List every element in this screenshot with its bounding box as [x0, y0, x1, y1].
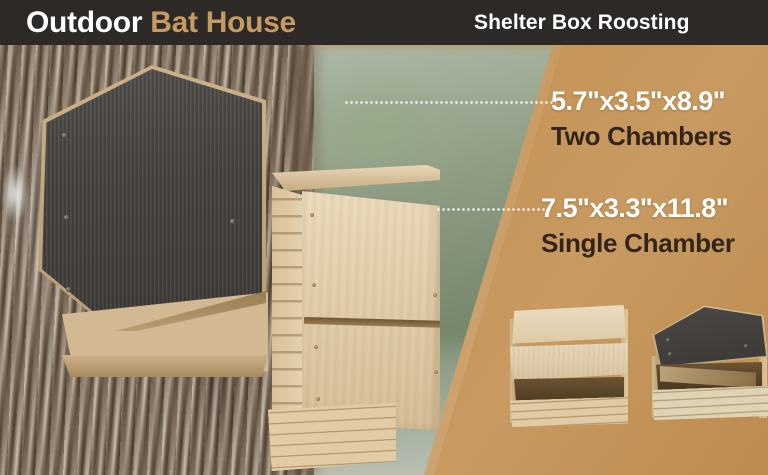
thumbnail-dark-roof-panel — [652, 302, 766, 366]
thumbnail-landing-board — [510, 397, 628, 427]
screw-icon — [230, 219, 235, 224]
thumbnail-upper-roof-panel — [512, 305, 626, 347]
header-subtitle: Shelter Box Roosting — [474, 11, 690, 35]
bat-house-landing-board — [268, 403, 396, 471]
screw-icon — [64, 215, 69, 220]
bat-house-front-panel — [302, 181, 440, 431]
callout-dimensions: 5.7"x3.5"x8.9" — [551, 88, 732, 115]
bat-house-side-panel — [272, 181, 306, 431]
bat-house-roof — [272, 165, 440, 191]
callout-two-chambers: 5.7"x3.5"x8.9" Two Chambers — [551, 88, 732, 149]
screw-icon — [310, 213, 314, 217]
two-chamber-bat-house-thumbnail — [508, 305, 630, 425]
screw-icon — [744, 344, 748, 348]
callout-label: Two Chambers — [551, 123, 732, 149]
header-bar: Outdoor Bat House Shelter Box Roosting — [0, 0, 768, 45]
screw-icon — [314, 345, 318, 349]
bat-house-bottom-rail — [62, 355, 268, 377]
screw-icon — [434, 370, 438, 374]
product-banner: 5.7"x3.5"x8.9" Two Chambers 7.5"x3.3"x11… — [0, 0, 768, 475]
thumbnail-lower-roof-panel — [510, 343, 628, 381]
screw-icon — [66, 287, 71, 292]
dark-roof-bat-house-on-tree — [38, 55, 266, 400]
single-chamber-bat-house-thumbnail — [648, 300, 768, 425]
single-chamber-bat-house — [268, 165, 443, 465]
screw-icon — [316, 397, 320, 401]
page-title-part1: Outdoor — [26, 6, 142, 39]
leader-line-single-chamber — [436, 208, 548, 211]
leader-line-two-chambers — [344, 101, 556, 104]
screw-icon — [433, 293, 437, 297]
callout-label: Single Chamber — [541, 230, 735, 256]
screw-icon — [666, 338, 670, 342]
page-title-part2: Bat House — [150, 6, 296, 39]
snow-patch — [2, 165, 28, 223]
callout-single-chamber: 7.5"x3.3"x11.8" Single Chamber — [541, 195, 735, 256]
callout-dimensions: 7.5"x3.3"x11.8" — [541, 195, 735, 222]
page-title: Outdoor Bat House — [26, 6, 296, 40]
thumbnail-landing-board — [652, 386, 768, 420]
screw-icon — [668, 352, 672, 356]
screw-icon — [62, 133, 67, 138]
screw-icon — [312, 283, 316, 287]
